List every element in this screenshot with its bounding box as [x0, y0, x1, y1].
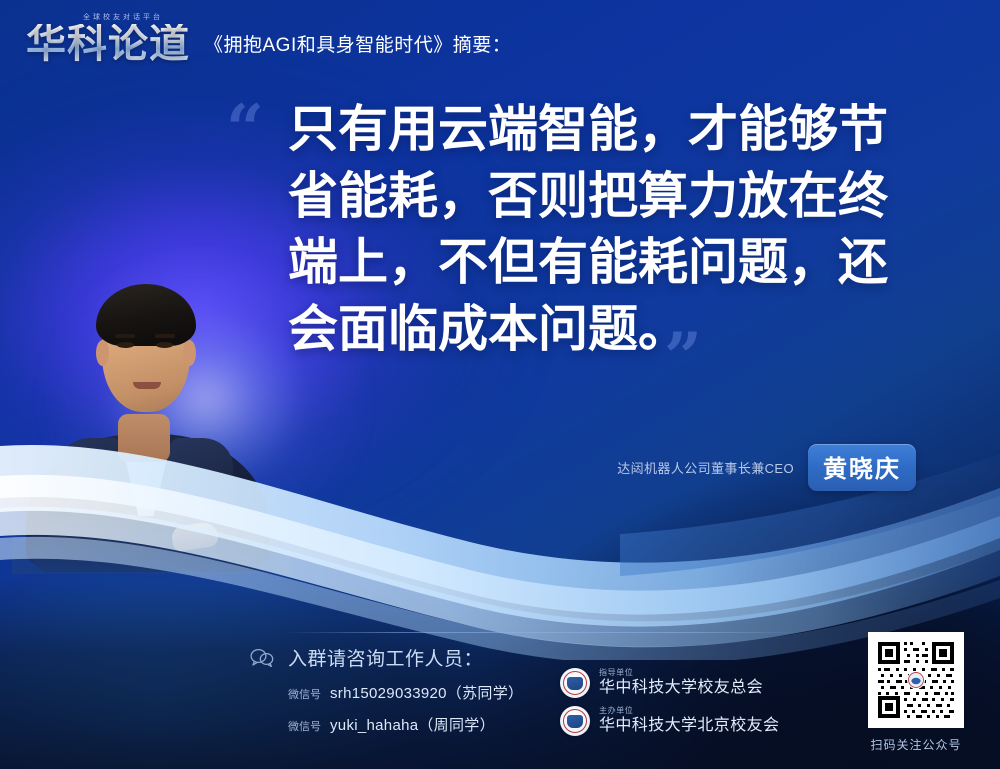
portrait-brow-left [115, 334, 135, 338]
qr-caption: 扫码关注公众号 [860, 736, 972, 753]
organization-name: 华中科技大学校友总会 [599, 679, 763, 697]
footer-heading: 入群请咨询工作人员： [288, 644, 483, 671]
university-seal-icon [560, 706, 590, 736]
organization-text: 指导单位 华中科技大学校友总会 [599, 669, 763, 697]
portrait-neck [118, 414, 170, 462]
organization-item: 主办单位 华中科技大学北京校友会 [560, 706, 779, 736]
brand-logo: 全球校友对话平台 华科论道 [26, 12, 190, 64]
qr-block: 扫码关注公众号 [860, 632, 972, 753]
portrait-eye-left [117, 342, 134, 348]
logo-tagline: 全球校友对话平台 [83, 12, 163, 22]
wechat-icon [250, 648, 275, 667]
header: 全球校友对话平台 华科论道 《拥抱AGI和具身智能时代》摘要： [26, 12, 511, 64]
portrait-ear-right [183, 340, 196, 366]
quote-close-mark: ” [664, 324, 702, 390]
poster-canvas: 全球校友对话平台 华科论道 《拥抱AGI和具身智能时代》摘要： [0, 0, 1000, 769]
portrait-eye-right [156, 342, 173, 348]
organization-kicker: 指导单位 [599, 669, 763, 678]
university-seal-icon [560, 668, 590, 698]
organization-kicker: 主办单位 [599, 707, 779, 716]
organization-name: 华中科技大学北京校友会 [599, 717, 779, 735]
contact-value[interactable]: yuki_hahaha（周同学） [330, 714, 495, 735]
footer-heading-row: 入群请咨询工作人员： [250, 644, 810, 671]
quote-open-mark: “ [226, 96, 264, 162]
organization-item: 指导单位 华中科技大学校友总会 [560, 668, 779, 698]
qr-code-icon[interactable] [868, 632, 964, 728]
attribution: 达闼机器人公司董事长兼CEO 黄晓庆 [617, 444, 916, 491]
footer-divider [286, 632, 802, 633]
qr-code-pattern [874, 638, 958, 722]
speaker-name-badge: 黄晓庆 [808, 444, 916, 491]
seal-emblem [567, 677, 583, 690]
speaker-role: 达闼机器人公司董事长兼CEO [617, 458, 794, 477]
organization-text: 主办单位 华中科技大学北京校友会 [599, 707, 779, 735]
quote-block: “ 只有用云端智能，才能够节省能耗，否则把算力放在终端上，不但有能耗问题，还会面… [224, 96, 936, 362]
portrait-ear-left [96, 340, 109, 366]
seal-emblem [567, 715, 583, 728]
portrait-brow-right [155, 334, 175, 338]
page-title: 《拥抱AGI和具身智能时代》摘要： [204, 30, 511, 64]
portrait-hair [96, 284, 196, 346]
contact-value[interactable]: srh15029033920（苏同学） [330, 682, 523, 703]
logo-wordmark: 华科论道 [26, 24, 190, 64]
contact-label: 微信号 [288, 686, 321, 702]
quote-text: 只有用云端智能，才能够节省能耗，否则把算力放在终端上，不但有能耗问题，还会面临成… [224, 96, 936, 362]
portrait-mouth [133, 382, 161, 389]
contact-label: 微信号 [288, 718, 321, 734]
organization-list: 指导单位 华中科技大学校友总会 主办单位 华中科技大学北京校友会 [560, 668, 779, 744]
portrait-fade-overlay [12, 508, 292, 574]
